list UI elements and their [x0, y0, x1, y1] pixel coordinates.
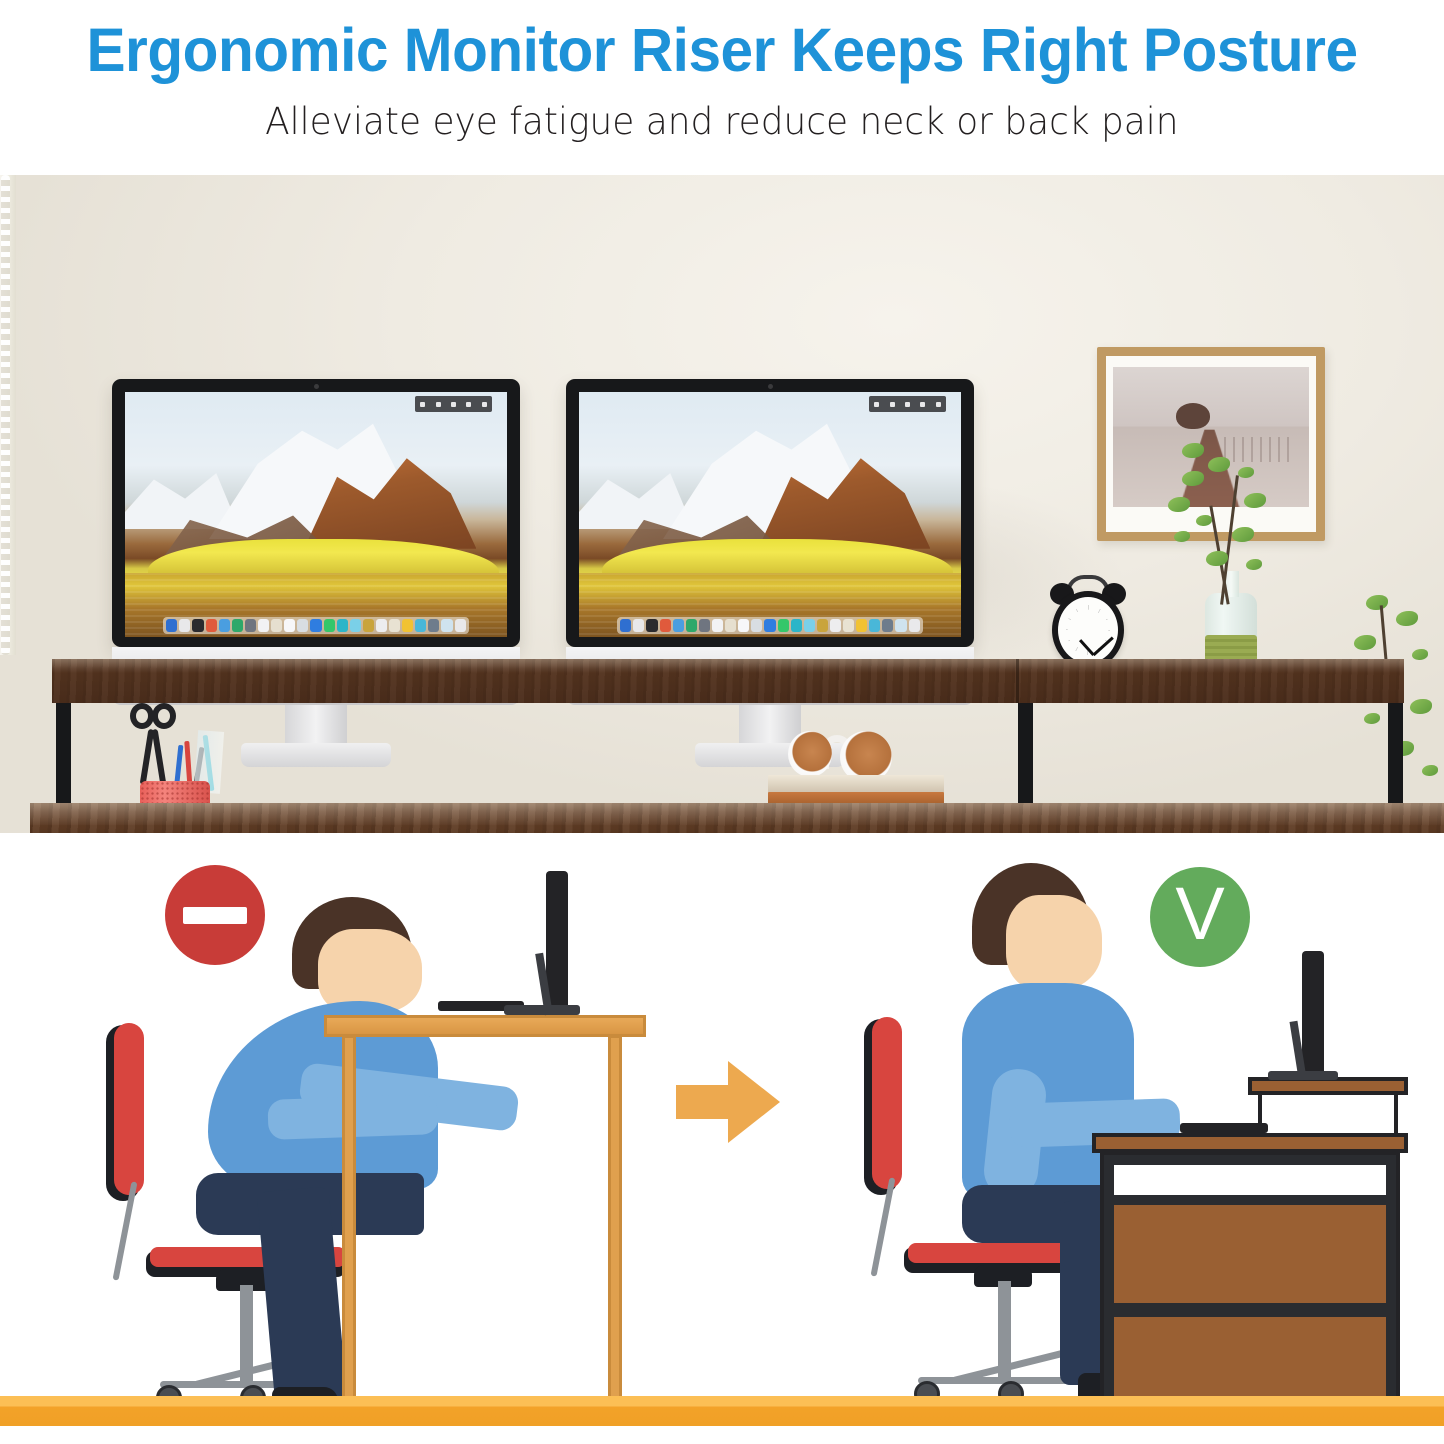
- riser-desk-drawer-top: [1114, 1205, 1386, 1303]
- left-monitor-foot: [241, 743, 391, 767]
- monitor-riser-legs: [1258, 1093, 1398, 1137]
- left-monitor: [112, 379, 520, 647]
- chair-back: [872, 1017, 902, 1189]
- riser-gloss: [52, 659, 1404, 673]
- clock-face: [1052, 591, 1124, 669]
- art-print: [1113, 367, 1309, 507]
- monitor-base: [1268, 1071, 1338, 1080]
- left-monitor-camera: [314, 384, 319, 389]
- riser-desk-drawer-bottom: [1114, 1317, 1386, 1403]
- right-monitor: [566, 379, 974, 647]
- floor-line: [0, 1396, 1444, 1426]
- screen-dock-2: [617, 617, 923, 634]
- right-monitor-camera: [768, 384, 773, 389]
- monitor-panel: [1302, 951, 1324, 1081]
- desk-gloss: [30, 803, 1444, 825]
- chair-back: [114, 1023, 144, 1195]
- page-subtitle: Alleviate eye fatigue and reduce neck or…: [265, 100, 1178, 144]
- plain-desk-leg-left: [342, 1035, 356, 1403]
- right-monitor-screen: [579, 392, 961, 637]
- plain-desk-leg-right: [608, 1035, 622, 1403]
- prohibition-sign: [165, 865, 265, 965]
- posture-comparison-diagram: V: [0, 833, 1444, 1444]
- riser-desk-slot: [1114, 1165, 1386, 1195]
- screen-menubar-2: [869, 396, 945, 412]
- page-title: Ergonomic Monitor Riser Keeps Right Post…: [86, 16, 1357, 84]
- arrow-head: [728, 1061, 780, 1143]
- transition-arrow: [676, 1061, 780, 1145]
- check-sign: V: [1150, 867, 1250, 967]
- curtain: [0, 175, 16, 655]
- left-monitor-screen: [125, 392, 507, 637]
- face: [1006, 895, 1102, 989]
- riser-desk-keyboard: [1180, 1123, 1268, 1133]
- monitor-riser-shelf: [52, 659, 1404, 703]
- plain-desk-top: [324, 1015, 646, 1037]
- headphones-earcup-left: [788, 731, 832, 777]
- left-monitor-bezel: [112, 379, 520, 647]
- alarm-clock: [1050, 573, 1126, 671]
- screen-dock: [163, 617, 469, 634]
- product-photo: THRIFT EPSON: [0, 175, 1444, 833]
- scissors-ring-left: [130, 703, 154, 729]
- right-monitor-bezel: [566, 379, 974, 647]
- side-plant: [1330, 595, 1444, 833]
- check-glyph: V: [1175, 877, 1224, 951]
- scissors-ring-right: [152, 703, 176, 729]
- face: [318, 929, 422, 1013]
- riser-seam: [1016, 659, 1019, 703]
- screen-menubar: [415, 396, 491, 412]
- scissors-blade-right: [152, 729, 167, 785]
- monitor-base: [504, 1005, 580, 1015]
- header-banner: Ergonomic Monitor Riser Keeps Right Post…: [0, 0, 1444, 175]
- book-1: [768, 775, 944, 793]
